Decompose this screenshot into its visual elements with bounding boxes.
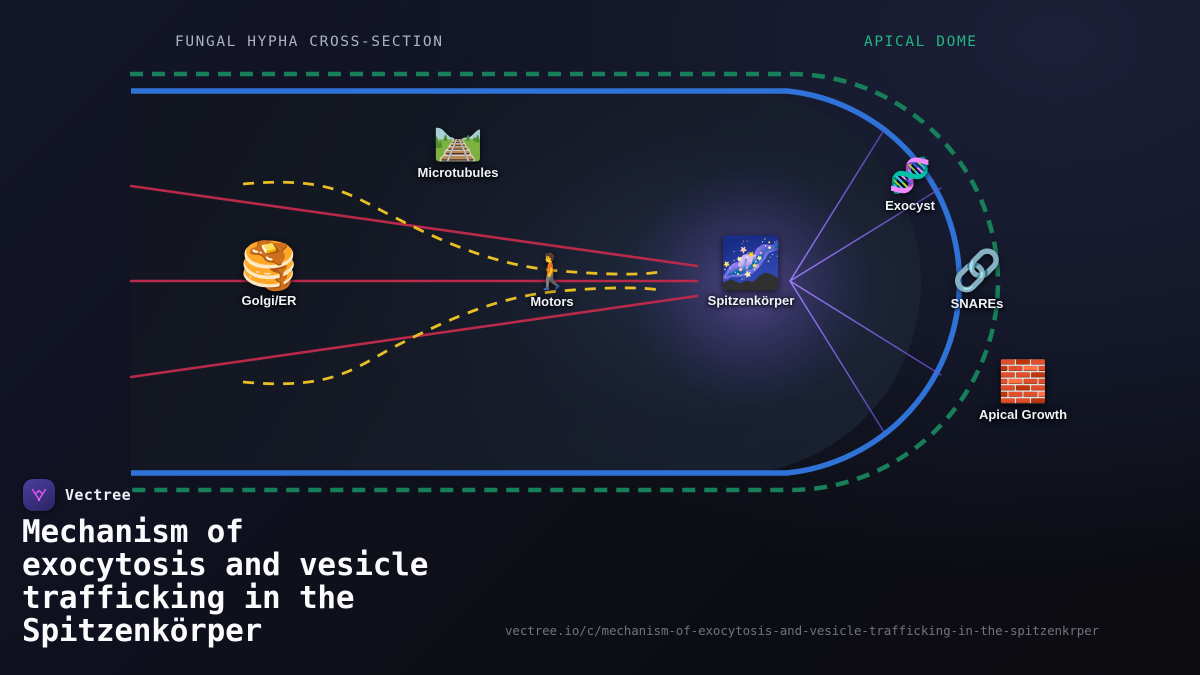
vectree-branch-logo [23, 479, 55, 511]
node-microtubules[interactable]: 🛤️ Microtubules [418, 120, 499, 180]
secretion-ray [790, 281, 884, 432]
dna-icon: 🧬 [885, 159, 935, 193]
node-label-motors: Motors [530, 294, 573, 309]
vesicle-paths [243, 182, 660, 384]
secretion-ray [790, 130, 884, 281]
link-chain-icon: 🔗 [951, 251, 1004, 291]
node-snares[interactable]: 🔗 SNAREs [951, 251, 1004, 311]
node-golgi-er[interactable]: 🥞 Golgi/ER [240, 242, 297, 308]
vesicle-path [243, 182, 660, 274]
microtubule-tracks [131, 186, 697, 377]
node-label-microtubules: Microtubules [418, 165, 499, 180]
page-url: vectree.io/c/mechanism-of-exocytosis-and… [505, 623, 1099, 638]
node-label-apical-growth: Apical Growth [979, 407, 1067, 422]
secretion-ray [790, 281, 941, 375]
pancakes-icon: 🥞 [240, 242, 297, 288]
node-label-golgi-er: Golgi/ER [240, 293, 297, 308]
node-label-spitzenkorper: Spitzenkörper [708, 293, 795, 308]
microtubule-track [131, 186, 697, 266]
node-spitzenkorper[interactable]: 🌌 Spitzenkörper [708, 238, 795, 308]
page-title: Mechanism of exocytosis and vesicle traf… [22, 516, 582, 648]
railway-track-icon: 🛤️ [418, 120, 499, 160]
vesicle-path [243, 288, 660, 384]
diagram-canvas: FUNGAL HYPHA CROSS-SECTION APICAL DOME [0, 0, 1200, 675]
milky-way-icon: 🌌 [708, 238, 795, 288]
brand: Vectree [23, 479, 131, 511]
node-exocyst[interactable]: 🧬 Exocyst [885, 159, 935, 213]
brick-wall-icon: 🧱 [979, 362, 1067, 402]
walking-person-icon: 🚶 [530, 255, 573, 289]
node-apical-growth[interactable]: 🧱 Apical Growth [979, 362, 1067, 422]
node-motors[interactable]: 🚶 Motors [530, 255, 573, 309]
brand-name: Vectree [65, 486, 131, 504]
node-label-exocyst: Exocyst [885, 198, 935, 213]
node-label-snares: SNAREs [951, 296, 1004, 311]
